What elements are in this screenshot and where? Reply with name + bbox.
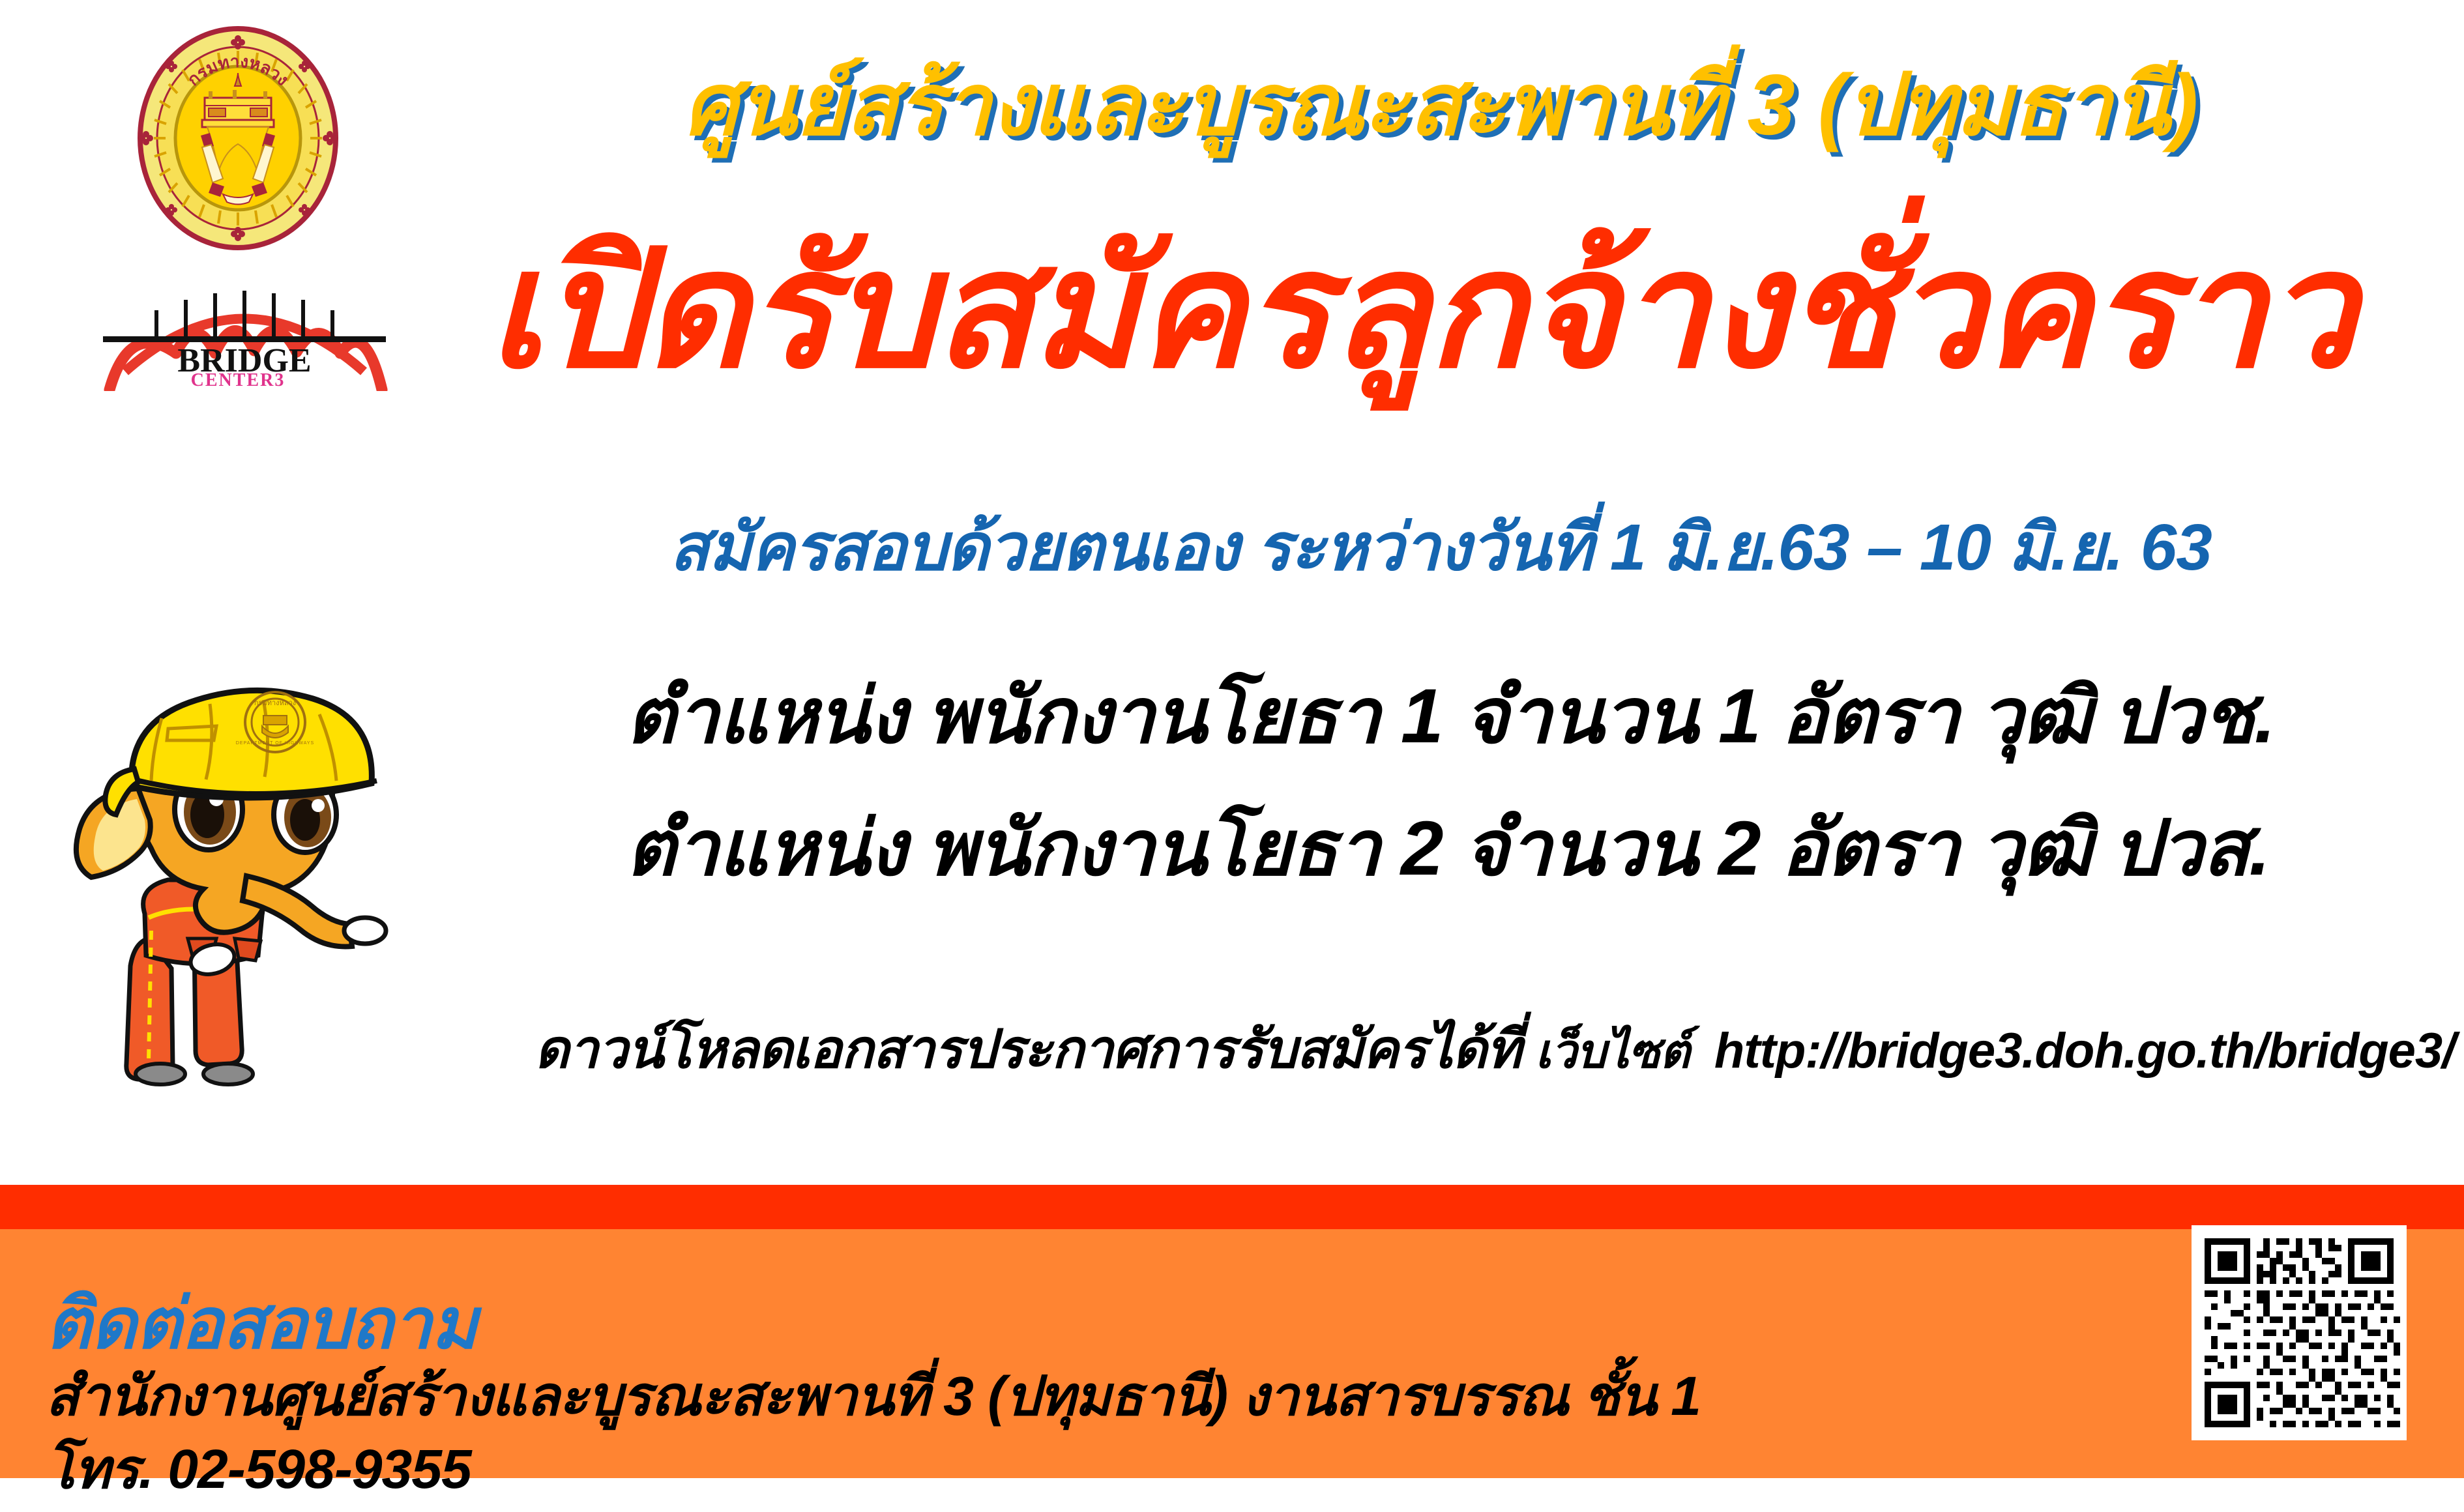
website-word-label: เว็บไซต์ [1535,1026,1690,1078]
red-divider-stripe [0,1185,2464,1229]
position-line-1: ตำแหน่ง พนักงานโยธา 1 จำนวน 1 อัตรา วุฒิ… [626,678,2321,755]
logo-column: กรมทางหลวง [46,13,437,443]
main-heading: เปิดรับสมัครลูกจ้างชั่วคราว [456,228,2386,391]
bridge-center3-logo-icon: BRIDGE CENTER3 [98,274,391,391]
center3-wordmark: CENTER3 [191,370,286,390]
application-date-subtitle: สมัครสอบด้วยตนเอง ระหว่างวันที่ 1 มิ.ย.6… [495,495,2386,599]
website-url-link[interactable]: http://bridge3.doh.go.th/bridge3/ [1714,1023,2455,1079]
position-line-2: ตำแหน่ง พนักงานโยธา 2 จำนวน 2 อัตรา วุฒิ… [626,810,2321,887]
department-of-highways-seal-icon: กรมทางหลวง [137,26,339,251]
organization-title: ศูนย์สร้างและบูรณะสะพานที่ 3 (ปทุมธานี) [495,59,2386,152]
contact-footer: ติดต่อสอบถาม สำนักงานศูนย์สร้างและบูรณะส… [0,1229,2464,1478]
qr-code[interactable] [2192,1225,2407,1440]
phone-number: โทร. 02-598-9355 [46,1425,471,1512]
svg-text:DEPARTMENT OF HIGHWAYS: DEPARTMENT OF HIGHWAYS [236,741,314,746]
position-list: ตำแหน่ง พนักงานโยธา 1 จำนวน 1 อัตรา วุฒิ… [626,678,2321,942]
elephant-engineer-mascot-icon: กรมทางหลวง DEPARTMENT OF HIGHWAYS [39,658,404,1101]
svg-text:กรมทางหลวง: กรมทางหลวง [254,699,296,707]
download-instruction-row: ดาวน์โหลดเอกสารประกาศการรับสมัครได้ที่ เ… [535,1007,2360,1092]
download-label: ดาวน์โหลดเอกสารประกาศการรับสมัครได้ที่ [535,1020,1521,1079]
